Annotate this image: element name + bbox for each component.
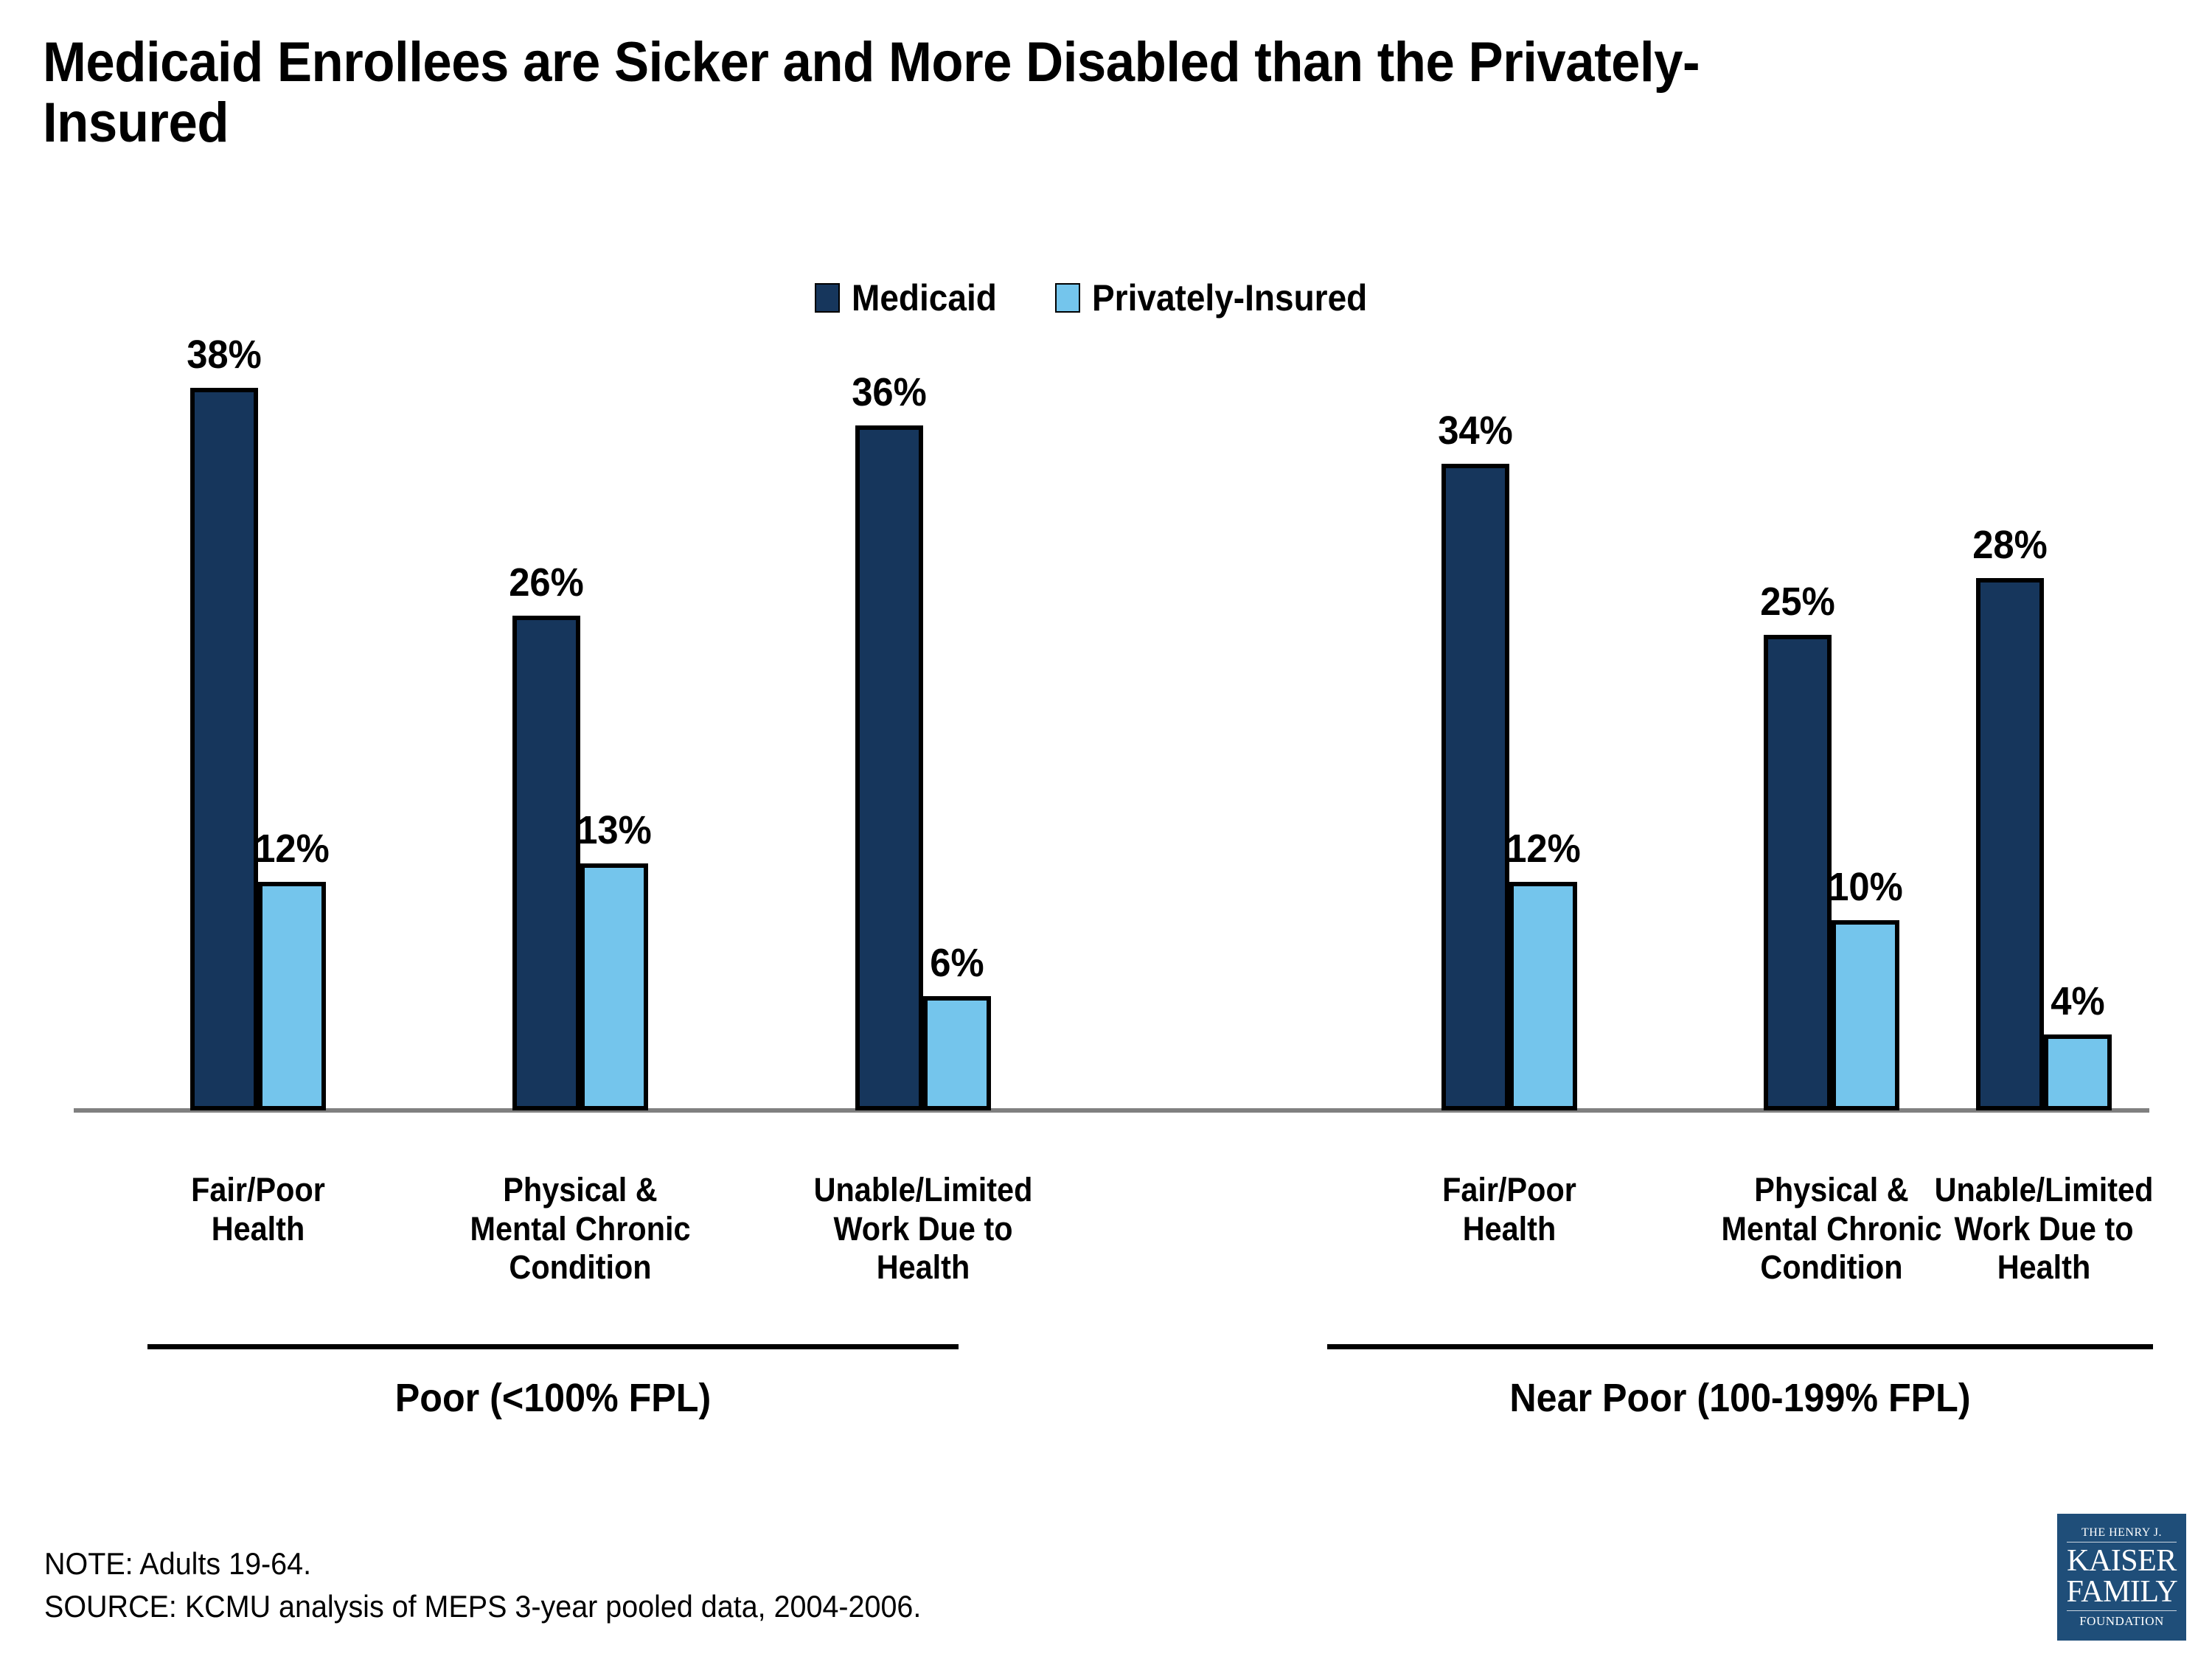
bar-medicaid [190, 388, 258, 1110]
bar-value-label: 13% [540, 807, 687, 853]
plot-area: 38%12%26%13%36%6%34%12%25%10%28%4% Fair/… [0, 0, 2212, 1659]
chart-title: Medicaid Enrollees are Sicker and More D… [43, 32, 1798, 153]
bar-value-label: 38% [150, 332, 297, 378]
logo-line-kaiser-family: KAISER FAMILY [2067, 1543, 2177, 1610]
bar-privately-insured [1509, 882, 1577, 1110]
logo-line-kaiser: KAISER [2067, 1546, 2177, 1576]
bar-privately-insured [2044, 1034, 2112, 1110]
bar-value-label: 12% [1470, 826, 1616, 872]
bar-medicaid [1441, 464, 1509, 1110]
bar-value-label: 25% [1724, 579, 1871, 625]
footer-note: NOTE: Adults 19-64. [44, 1543, 921, 1585]
x-axis-line [74, 1108, 2149, 1113]
bar-medicaid [1976, 578, 2044, 1110]
bar-privately-insured [580, 863, 648, 1110]
legend-label-medicaid: Medicaid [852, 276, 997, 319]
bar-value-label: 26% [473, 560, 619, 605]
legend-swatch-medicaid [815, 283, 840, 313]
bar-value-label: 34% [1402, 408, 1548, 453]
bar-value-label: 28% [1936, 522, 2083, 568]
kaiser-family-foundation-logo: THE HENRY J. KAISER FAMILY FOUNDATION [2057, 1514, 2186, 1641]
chart-legend: Medicaid Privately-Insured [815, 276, 1391, 319]
bar-value-label: 4% [2004, 978, 2151, 1024]
legend-item-medicaid: Medicaid [815, 276, 1009, 319]
footer-notes: NOTE: Adults 19-64. SOURCE: KCMU analysi… [44, 1543, 921, 1628]
group-rule [147, 1344, 959, 1349]
category-label: Unable/Limited Work Due to Health [781, 1171, 1065, 1287]
bar-privately-insured [1832, 920, 1899, 1110]
logo-line-foundation: FOUNDATION [2079, 1611, 2164, 1627]
legend-item-privately-insured: Privately-Insured [1055, 276, 1391, 319]
group-rule [1327, 1344, 2153, 1349]
bar-privately-insured [258, 882, 326, 1110]
bar-value-label: 6% [883, 940, 1030, 986]
bar-value-label: 10% [1792, 864, 1938, 910]
legend-label-privately-insured: Privately-Insured [1092, 276, 1367, 319]
bar-medicaid [512, 616, 580, 1110]
category-label: Unable/Limited Work Due to Health [1902, 1171, 2186, 1287]
category-label: Physical & Mental Chronic Condition [1689, 1171, 1974, 1287]
category-label: Fair/Poor Health [1367, 1171, 1652, 1248]
logo-line-henry-j: THE HENRY J. [2067, 1527, 2177, 1543]
category-label: Physical & Mental Chronic Condition [438, 1171, 723, 1287]
bar-privately-insured [923, 996, 991, 1110]
bar-value-label: 36% [815, 369, 962, 415]
legend-swatch-privately-insured [1055, 283, 1080, 313]
bar-value-label: 12% [218, 826, 365, 872]
category-label: Fair/Poor Health [116, 1171, 400, 1248]
footer-source: SOURCE: KCMU analysis of MEPS 3-year poo… [44, 1585, 921, 1628]
bar-medicaid [855, 425, 923, 1110]
group-label: Near Poor (100-199% FPL) [1356, 1375, 2124, 1421]
bar-medicaid [1764, 635, 1832, 1110]
group-label: Poor (<100% FPL) [176, 1375, 931, 1421]
logo-line-family: FAMILY [2067, 1577, 2177, 1607]
